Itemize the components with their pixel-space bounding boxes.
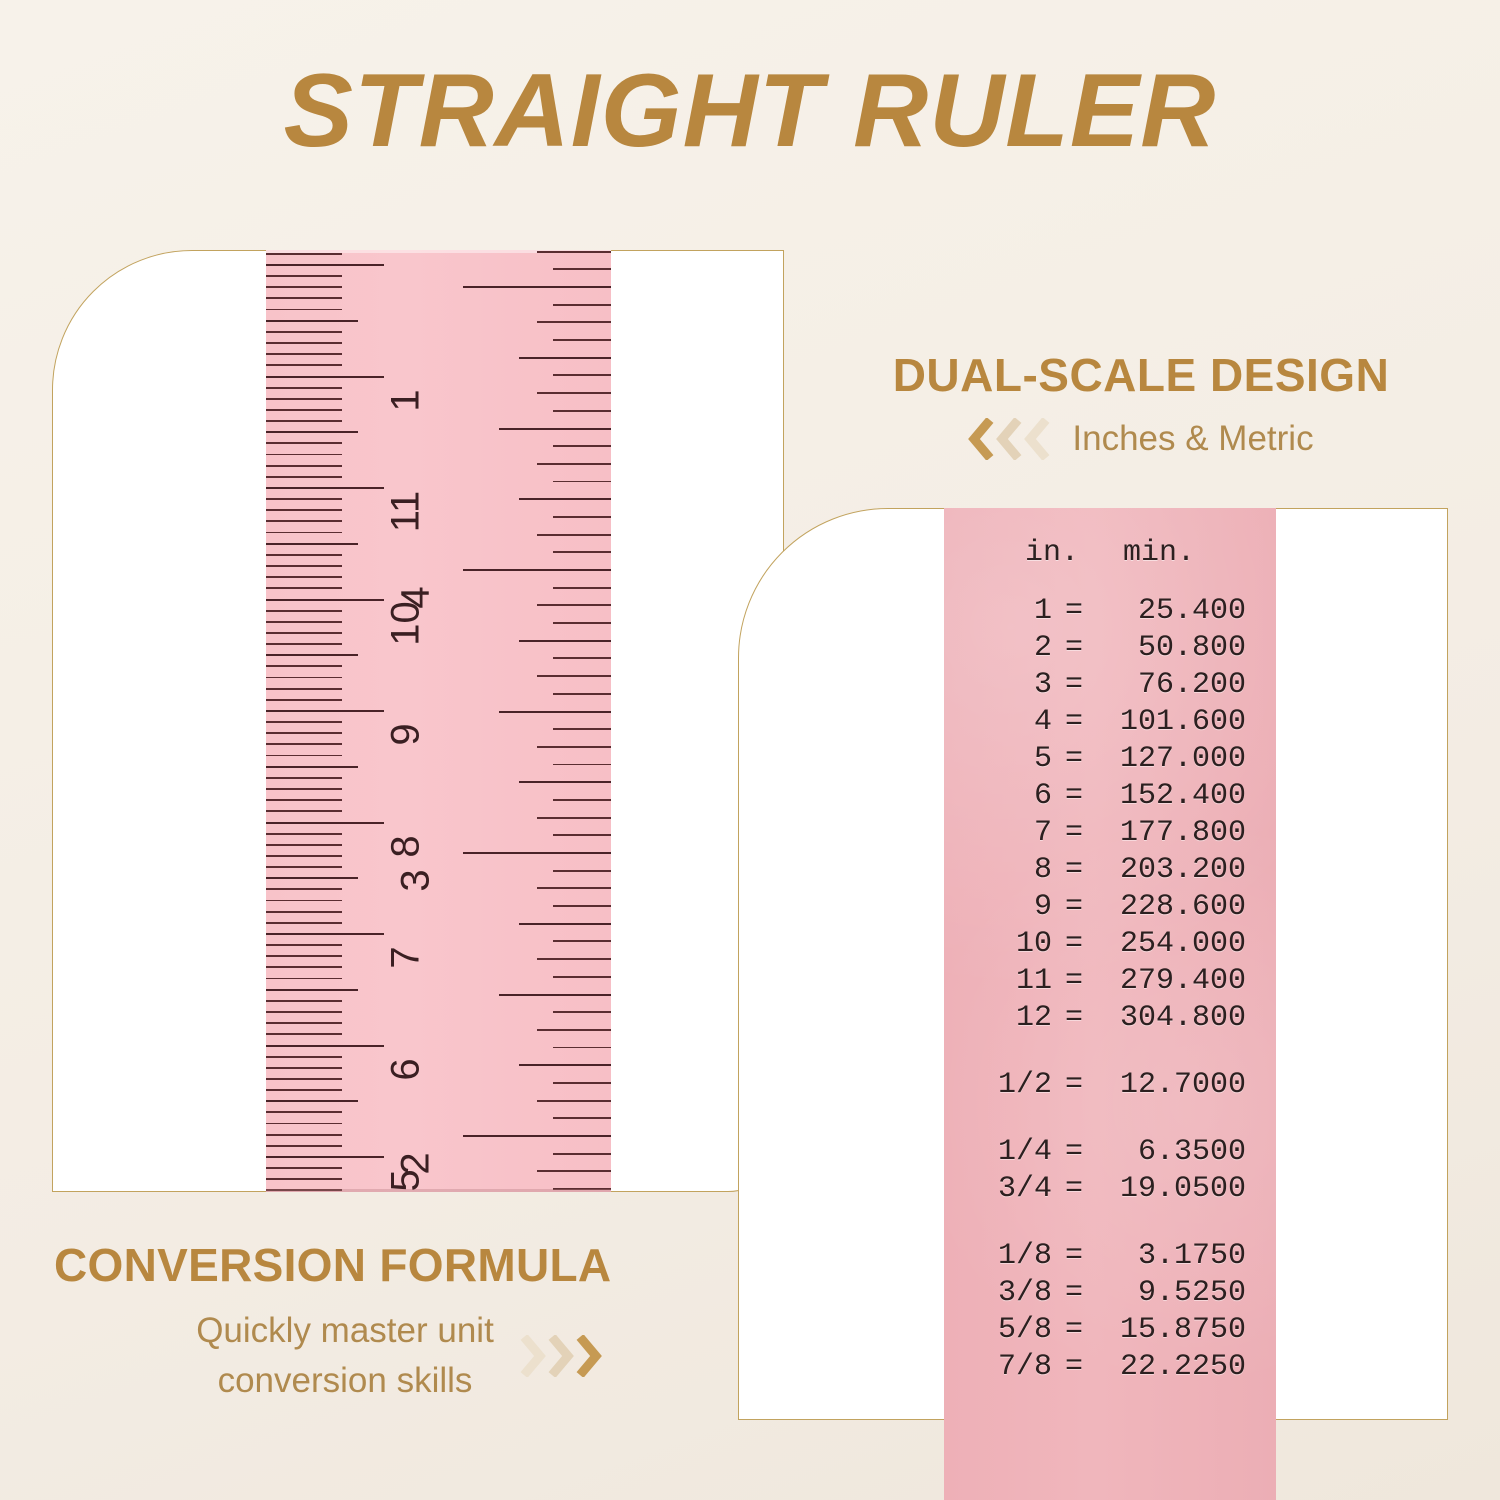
ruler-tick	[553, 657, 611, 659]
ruler-tick	[266, 565, 342, 567]
ruler-metric-number: 6	[384, 1041, 429, 1097]
chevron-right-icon-3	[576, 1335, 602, 1377]
ruler-tick	[537, 1100, 611, 1102]
conversion-millimeters: 3.1750	[1096, 1241, 1276, 1271]
dual-scale-subtitle: Inches & Metric	[1072, 419, 1313, 459]
conversion-row: 3/8=9.5250	[944, 1274, 1276, 1311]
ruler-tick	[266, 576, 342, 578]
conversion-equals: =	[1052, 818, 1096, 848]
ruler-tick	[266, 721, 342, 723]
ruler-tick	[266, 1045, 384, 1047]
ruler-tick	[553, 976, 611, 978]
ruler-tick	[553, 339, 611, 341]
conversion-inches: 3	[944, 670, 1052, 700]
ruler-tick	[463, 1135, 611, 1137]
ruler-tick	[266, 755, 342, 757]
conversion-table-header: in. min.	[944, 538, 1276, 568]
ruler-tick	[553, 587, 611, 589]
conversion-row: 7=177.800	[944, 814, 1276, 851]
conversion-inches: 12	[944, 1003, 1052, 1033]
conversion-formula-block: CONVERSION FORMULA Quickly master unit c…	[54, 1238, 744, 1405]
conversion-millimeters: 279.400	[1096, 966, 1276, 996]
ruler-tick	[463, 569, 611, 571]
ruler-tick	[519, 498, 611, 500]
chevron-left-icon-2	[996, 418, 1022, 460]
ruler-tick	[499, 994, 611, 996]
conversion-inches: 5	[944, 744, 1052, 774]
ruler-tick	[266, 933, 384, 935]
ruler-tick	[266, 643, 342, 645]
ruler-tick	[266, 1145, 342, 1147]
ruler-tick	[266, 1067, 342, 1069]
ruler-tick	[266, 286, 342, 288]
ruler-tick	[266, 1078, 342, 1080]
ruler-tick	[553, 799, 611, 801]
ruler-tick	[266, 1056, 342, 1058]
conversion-inches: 7/8	[944, 1352, 1052, 1382]
ruler-tick	[553, 445, 611, 447]
conversion-equals: =	[1052, 744, 1096, 774]
ruler-tick	[266, 810, 342, 812]
conversion-inches: 3/8	[944, 1278, 1052, 1308]
ruler-tick	[537, 321, 611, 323]
ruler-tick	[266, 498, 342, 500]
conversion-inches: 8	[944, 855, 1052, 885]
conversion-row: 3/4=19.0500	[944, 1170, 1276, 1207]
ruler-tick	[553, 1082, 611, 1084]
conversion-row: 1/8=3.1750	[944, 1237, 1276, 1274]
conversion-millimeters: 127.000	[1096, 744, 1276, 774]
conversion-inches: 7	[944, 818, 1052, 848]
ruler-tick	[553, 481, 611, 483]
ruler-tick	[266, 1111, 342, 1113]
conversion-millimeters: 9.5250	[1096, 1278, 1276, 1308]
ruler-tick	[266, 398, 342, 400]
conversion-millimeters: 19.0500	[1096, 1174, 1276, 1204]
conversion-millimeters: 177.800	[1096, 818, 1276, 848]
ruler-metric-number: 11	[384, 484, 429, 540]
ruler-tick	[553, 516, 611, 518]
ruler-imperial-number: 4	[394, 570, 439, 626]
conversion-millimeters: 6.3500	[1096, 1137, 1276, 1167]
ruler-tick	[537, 251, 611, 253]
dual-scale-block: DUAL-SCALE DESIGN Inches & Metric	[836, 348, 1446, 460]
conversion-rows-whole: 1=25.4002=50.8003=76.2004=101.6005=127.0…	[944, 592, 1276, 1036]
ruler-tick	[266, 364, 342, 366]
ruler-tick	[553, 834, 611, 836]
conversion-equals: =	[1052, 670, 1096, 700]
conversion-row: 3=76.200	[944, 666, 1276, 703]
ruler-tick	[266, 944, 342, 946]
ruler-tick	[266, 855, 342, 857]
ruler-imperial-number: 2	[394, 1136, 439, 1192]
conversion-equals: =	[1052, 633, 1096, 663]
conversion-millimeters: 304.800	[1096, 1003, 1276, 1033]
conversion-inches: 2	[944, 633, 1052, 663]
ruler-tick	[553, 693, 611, 695]
ruler-tick	[266, 420, 342, 422]
ruler-tick	[553, 374, 611, 376]
ruler-metric-number: 9	[384, 707, 429, 763]
conversion-table-strip: in. min. 1=25.4002=50.8003=76.2004=101.6…	[944, 508, 1276, 1500]
conversion-row: 1/4=6.3500	[944, 1133, 1276, 1170]
ruler-tick	[266, 1189, 342, 1191]
ruler-imperial-number: 3	[394, 853, 439, 909]
conversion-millimeters: 15.8750	[1096, 1315, 1276, 1345]
conversion-subtitle-line2: conversion skills	[218, 1361, 473, 1400]
ruler-tick	[553, 1188, 611, 1190]
conversion-millimeters: 25.400	[1096, 596, 1276, 626]
ruler-tick	[553, 1153, 611, 1155]
ruler-tick	[266, 1000, 342, 1002]
conversion-row: 11=279.400	[944, 962, 1276, 999]
ruler-tick	[519, 923, 611, 925]
conversion-inches: 11	[944, 966, 1052, 996]
ruler-tick	[266, 1167, 342, 1169]
ruler-tick	[266, 966, 342, 968]
conversion-row: 7/8=22.2250	[944, 1348, 1276, 1385]
conversion-equals: =	[1052, 707, 1096, 737]
conversion-formula-subtitle-row: Quickly master unit conversion skills	[54, 1306, 744, 1405]
conversion-inches: 1/4	[944, 1137, 1052, 1167]
conversion-equals: =	[1052, 1241, 1096, 1271]
chevron-right-group	[520, 1335, 602, 1377]
dual-scale-subtitle-row: Inches & Metric	[836, 418, 1446, 460]
ruler-tick	[266, 1156, 384, 1158]
ruler-tick	[537, 1029, 611, 1031]
ruler-tick	[266, 699, 342, 701]
dual-scale-heading: DUAL-SCALE DESIGN	[836, 348, 1446, 402]
ruler-tick	[266, 264, 384, 266]
ruler-tick	[266, 978, 342, 980]
ruler-tick	[266, 487, 384, 489]
conversion-equals: =	[1052, 892, 1096, 922]
ruler-tick	[519, 1064, 611, 1066]
ruler-tick	[266, 543, 358, 545]
ruler-tick	[537, 392, 611, 394]
ruler-metric-number: 7	[384, 930, 429, 986]
conversion-row: 1=25.400	[944, 592, 1276, 629]
ruler-tick	[266, 1089, 342, 1091]
ruler-tick	[499, 428, 611, 430]
ruler-tick	[553, 940, 611, 942]
ruler-tick	[266, 877, 358, 879]
conversion-row: 4=101.600	[944, 703, 1276, 740]
conversion-equals: =	[1052, 1174, 1096, 1204]
ruler-tick	[266, 922, 342, 924]
ruler-tick	[463, 852, 611, 854]
chevron-left-icon-3	[1024, 418, 1050, 460]
conversion-row: 5=127.000	[944, 740, 1276, 777]
ruler-tick	[266, 253, 342, 255]
ruler-tick	[266, 476, 342, 478]
ruler-tick	[266, 1022, 342, 1024]
ruler-tick	[266, 1011, 342, 1013]
ruler-tick	[537, 534, 611, 536]
ruler-tick	[266, 777, 342, 779]
ruler-tick	[266, 509, 342, 511]
conversion-row: 5/8=15.8750	[944, 1311, 1276, 1348]
ruler-tick	[463, 286, 611, 288]
ruler-tick	[266, 621, 342, 623]
ruler-tick	[266, 688, 342, 690]
chevron-left-group	[968, 418, 1050, 460]
ruler-tick	[266, 822, 384, 824]
ruler-image: 5678910111234	[266, 250, 611, 1192]
conversion-millimeters: 228.600	[1096, 892, 1276, 922]
ruler-tick	[553, 304, 611, 306]
ruler-tick	[266, 465, 342, 467]
ruler-tick	[266, 710, 384, 712]
ruler-tick	[266, 554, 342, 556]
conversion-millimeters: 12.7000	[1096, 1070, 1276, 1100]
conversion-row: 10=254.000	[944, 925, 1276, 962]
ruler-tick	[266, 1134, 342, 1136]
spacer-3	[944, 1207, 1276, 1237]
ruler-tick	[553, 551, 611, 553]
chevron-right-icon-1	[520, 1335, 546, 1377]
ruler-tick	[266, 532, 342, 534]
ruler-tick	[266, 309, 342, 311]
column-header-mm: min.	[1123, 538, 1195, 568]
conversion-millimeters: 101.600	[1096, 707, 1276, 737]
ruler-tick	[537, 604, 611, 606]
ruler-tick	[266, 632, 342, 634]
conversion-subtitle-line1: Quickly master unit	[196, 1311, 494, 1350]
ruler-tick	[266, 654, 358, 656]
conversion-formula-heading: CONVERSION FORMULA	[54, 1238, 744, 1292]
conversion-rows-quarters: 1/4=6.35003/4=19.0500	[944, 1133, 1276, 1207]
conversion-millimeters: 152.400	[1096, 781, 1276, 811]
ruler-tick	[266, 320, 358, 322]
ruler-tick	[519, 357, 611, 359]
ruler-tick	[266, 376, 384, 378]
ruler-tick	[266, 1123, 342, 1125]
ruler-tick	[553, 1117, 611, 1119]
ruler-tick	[537, 887, 611, 889]
conversion-inches: 1/8	[944, 1241, 1052, 1271]
ruler-tick	[553, 1047, 611, 1049]
ruler-tick	[537, 463, 611, 465]
ruler-tick	[266, 677, 342, 679]
conversion-inches: 4	[944, 707, 1052, 737]
ruler-tick	[266, 442, 342, 444]
conversion-equals: =	[1052, 1352, 1096, 1382]
ruler-tick	[553, 410, 611, 412]
conversion-inches: 9	[944, 892, 1052, 922]
ruler-tick	[266, 331, 342, 333]
conversion-equals: =	[1052, 596, 1096, 626]
conversion-rows-eighths: 1/8=3.17503/8=9.52505/8=15.87507/8=22.22…	[944, 1237, 1276, 1385]
ruler-tick	[553, 268, 611, 270]
ruler-tick	[499, 711, 611, 713]
ruler-tick	[553, 1011, 611, 1013]
ruler-tick	[266, 900, 342, 902]
ruler-tick	[266, 1178, 342, 1180]
conversion-equals: =	[1052, 1278, 1096, 1308]
ruler-tick	[266, 743, 342, 745]
ruler-tick	[266, 520, 342, 522]
column-header-inches: in.	[1025, 538, 1079, 568]
conversion-equals: =	[1052, 929, 1096, 959]
ruler-tick	[266, 1100, 358, 1102]
page-title: STRAIGHT RULER	[0, 52, 1500, 171]
conversion-inches: 1/2	[944, 1070, 1052, 1100]
ruler-tick	[266, 599, 384, 601]
ruler-tick	[266, 732, 342, 734]
ruler-tick	[266, 844, 342, 846]
conversion-inches: 1	[944, 596, 1052, 626]
conversion-millimeters: 254.000	[1096, 929, 1276, 959]
chevron-right-icon-2	[548, 1335, 574, 1377]
ruler-tick	[266, 665, 342, 667]
conversion-row: 2=50.800	[944, 629, 1276, 666]
ruler-tick	[266, 866, 342, 868]
ruler-tick	[266, 409, 342, 411]
ruler-tick	[553, 764, 611, 766]
ruler-tick	[553, 622, 611, 624]
ruler-tick	[553, 870, 611, 872]
conversion-row: 6=152.400	[944, 777, 1276, 814]
ruler-tick	[553, 728, 611, 730]
ruler-tick	[537, 1170, 611, 1172]
spacer-1	[944, 1036, 1276, 1066]
conversion-millimeters: 22.2250	[1096, 1352, 1276, 1382]
conversion-millimeters: 50.800	[1096, 633, 1276, 663]
ruler-tick	[519, 640, 611, 642]
conversion-row: 1/2=12.7000	[944, 1066, 1276, 1103]
ruler-tick	[266, 955, 342, 957]
conversion-row: 12=304.800	[944, 999, 1276, 1036]
conversion-inches: 10	[944, 929, 1052, 959]
ruler-tick	[266, 275, 342, 277]
ruler-tick	[266, 1033, 342, 1035]
ruler-tick	[266, 342, 342, 344]
conversion-equals: =	[1052, 855, 1096, 885]
ruler-tick	[266, 989, 358, 991]
conversion-equals: =	[1052, 1070, 1096, 1100]
ruler-tick	[537, 817, 611, 819]
ruler-tick	[266, 431, 358, 433]
ruler-tick	[266, 353, 342, 355]
conversion-equals: =	[1052, 1137, 1096, 1167]
ruler-tick	[537, 675, 611, 677]
conversion-inches: 5/8	[944, 1315, 1052, 1345]
ruler-tick	[266, 799, 342, 801]
conversion-equals: =	[1052, 781, 1096, 811]
conversion-formula-subtitle: Quickly master unit conversion skills	[196, 1306, 494, 1405]
ruler-tick	[266, 610, 342, 612]
conversion-inches: 3/4	[944, 1174, 1052, 1204]
ruler-tick	[519, 781, 611, 783]
ruler-tick	[266, 788, 342, 790]
conversion-equals: =	[1052, 966, 1096, 996]
ruler-tick	[537, 958, 611, 960]
ruler-tick	[266, 911, 342, 913]
conversion-millimeters: 203.200	[1096, 855, 1276, 885]
ruler-tick	[266, 888, 342, 890]
ruler-tick	[266, 387, 342, 389]
conversion-rows-halves: 1/2=12.7000	[944, 1066, 1276, 1103]
ruler-tick	[553, 905, 611, 907]
conversion-equals: =	[1052, 1003, 1096, 1033]
conversion-inches: 6	[944, 781, 1052, 811]
conversion-table: in. min. 1=25.4002=50.8003=76.2004=101.6…	[944, 538, 1276, 1385]
spacer-2	[944, 1103, 1276, 1133]
ruler-tick	[266, 297, 342, 299]
poster-stage: STRAIGHT RULER 5678910111234 DUAL-SCALE …	[0, 0, 1500, 1500]
conversion-millimeters: 76.200	[1096, 670, 1276, 700]
conversion-equals: =	[1052, 1315, 1096, 1345]
ruler-metric-number: 1	[384, 372, 429, 428]
ruler-tick	[266, 833, 342, 835]
ruler-tick	[537, 746, 611, 748]
conversion-row: 8=203.200	[944, 851, 1276, 888]
conversion-row: 9=228.600	[944, 888, 1276, 925]
ruler-tick	[266, 454, 342, 456]
ruler-tick	[266, 766, 358, 768]
ruler-tick	[266, 587, 342, 589]
chevron-left-icon-1	[968, 418, 994, 460]
